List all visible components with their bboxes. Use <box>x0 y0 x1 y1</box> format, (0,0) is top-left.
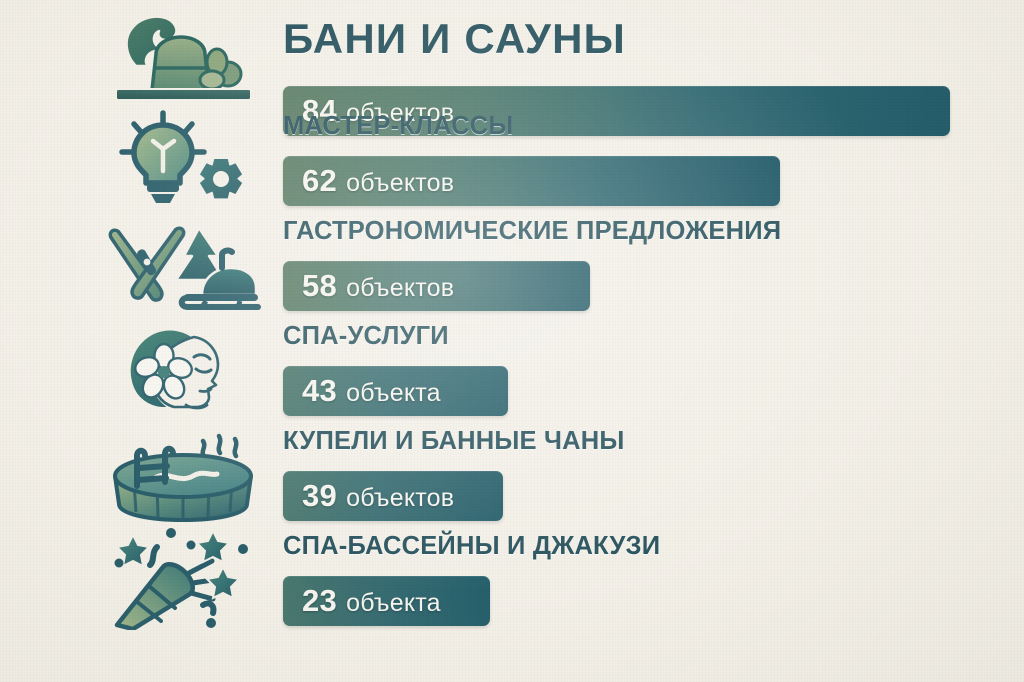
chart-row: СПА-УСЛУГИ 43объекта <box>0 315 1024 420</box>
chart-row: МАСТЕР-КЛАССЫ 62объектов <box>0 105 1024 210</box>
bar-unit: объекта <box>346 589 441 617</box>
page-title: БАНИ И САУНЫ <box>283 18 626 60</box>
sauna-stove-icon <box>98 0 268 105</box>
bar-value: 62 <box>302 163 337 198</box>
chart-row: ГАСТРОНОМИЧЕСКИЕ ПРЕДЛОЖЕНИЯ 58объектов <box>0 210 1024 315</box>
spa-face-flower-icon <box>98 315 268 420</box>
infographic-bar-chart: БАНИ И САУНЫ 84объектов <box>0 0 1024 682</box>
party-popper-icon <box>98 525 268 630</box>
chart-row: СПА-БАССЕЙНЫ И ДЖАКУЗИ 23объекта <box>0 525 1024 630</box>
bar-2: 58объектов <box>283 261 590 311</box>
hot-tub-icon <box>98 420 268 525</box>
lightbulb-gear-icon <box>98 105 268 210</box>
bar-value: 58 <box>302 268 337 303</box>
bar-3: 43объекта <box>283 366 508 416</box>
bar-1: 62объектов <box>283 156 780 206</box>
bar-4: 39объектов <box>283 471 503 521</box>
skis-sled-icon <box>98 210 268 315</box>
bar-unit: объекта <box>346 379 441 407</box>
chart-row: БАНИ И САУНЫ 84объектов <box>0 0 1024 105</box>
bar-value: 43 <box>302 373 337 408</box>
bar-value: 39 <box>302 478 337 513</box>
bar-5: 23объекта <box>283 576 490 626</box>
bar-unit: объектов <box>346 169 454 197</box>
bar-unit: объектов <box>346 484 454 512</box>
category-label: ГАСТРОНОМИЧЕСКИЕ ПРЕДЛОЖЕНИЯ <box>283 218 781 244</box>
category-label: СПА-УСЛУГИ <box>283 323 449 349</box>
category-label: КУПЕЛИ И БАННЫЕ ЧАНЫ <box>283 428 625 454</box>
bar-unit: объектов <box>346 274 454 302</box>
category-label: МАСТЕР-КЛАССЫ <box>283 113 514 139</box>
category-label: СПА-БАССЕЙНЫ И ДЖАКУЗИ <box>283 533 660 559</box>
chart-row: КУПЕЛИ И БАННЫЕ ЧАНЫ 39объектов <box>0 420 1024 525</box>
bar-value: 23 <box>302 583 337 618</box>
